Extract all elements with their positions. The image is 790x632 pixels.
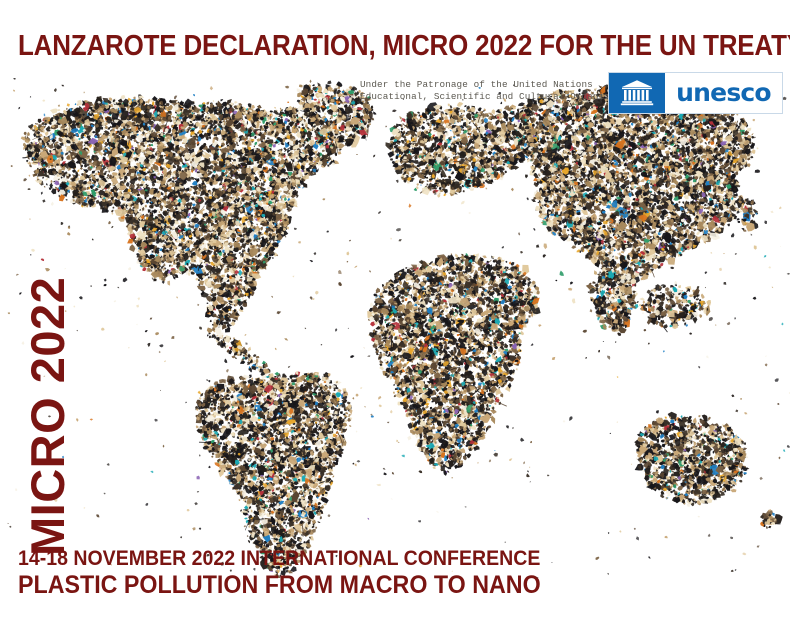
- unesco-wordmark: unesco: [665, 73, 782, 113]
- patronage-statement: Under the Patronage of the United Nation…: [360, 79, 610, 102]
- vertical-event-label: MICRO 2022: [20, 296, 76, 556]
- footer-block: 14-18 NOVEMBER 2022 INTERNATIONAL CONFER…: [18, 547, 580, 599]
- page-title: LANZAROTE DECLARATION, MICRO 2022 FOR TH…: [18, 29, 704, 63]
- unesco-logo: unesco: [608, 72, 783, 114]
- greek-temple-icon: [620, 79, 654, 107]
- patronage-line-1: Under the Patronage of the United Nation…: [360, 79, 610, 91]
- conference-poster: LANZAROTE DECLARATION, MICRO 2022 FOR TH…: [0, 0, 790, 632]
- footer-theme-line: PLASTIC POLLUTION FROM MACRO TO NANO: [18, 571, 541, 599]
- microplastic-map-canvas: [0, 78, 790, 578]
- unesco-emblem-panel: [609, 73, 665, 113]
- world-map-artwork: [0, 78, 790, 578]
- patronage-line-2: Educational, Scientific and Cultural Org…: [360, 91, 610, 103]
- footer-dates-line: 14-18 NOVEMBER 2022 INTERNATIONAL CONFER…: [18, 547, 541, 571]
